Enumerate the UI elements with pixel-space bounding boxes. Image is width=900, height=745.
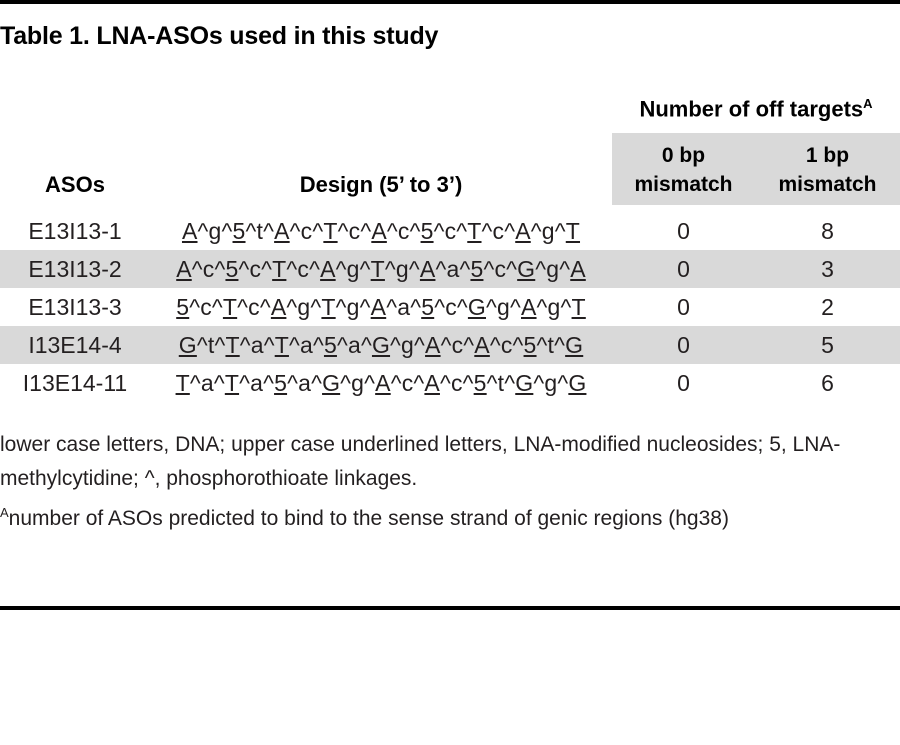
cell-offtargets-0bp: 0 (612, 250, 755, 288)
column-group-header-label: Number of off targets (639, 96, 863, 121)
column-header-0bp-line1: 0 bp (612, 141, 755, 170)
column-header-1bp-line1: 1 bp (755, 141, 900, 170)
cell-aso-name: E13I13-3 (0, 288, 150, 326)
table-bottom-rule (0, 606, 900, 610)
footnote-legend: lower case letters, DNA; upper case unde… (0, 428, 890, 496)
cell-offtargets-0bp: 0 (612, 364, 755, 402)
table-figure: Table 1. LNA-ASOs used in this study Num… (0, 0, 900, 745)
footnote-a-marker: A (0, 505, 9, 520)
column-header-0bp-mismatch: 0 bp mismatch (612, 141, 755, 199)
table-row: E13I13-2A^c^5^c^T^c^A^g^T^g^A^a^5^c^G^g^… (0, 250, 900, 288)
cell-offtargets-1bp: 3 (755, 250, 900, 288)
cell-aso-name: E13I13-2 (0, 250, 150, 288)
cell-design-sequence: A^c^5^c^T^c^A^g^T^g^A^a^5^c^G^g^A (150, 250, 612, 288)
footnote-a-text: number of ASOs predicted to bind to the … (9, 507, 729, 530)
table-row: E13I13-1A^g^5^t^A^c^T^c^A^c^5^c^T^c^A^g^… (0, 212, 900, 250)
cell-design-sequence: A^g^5^t^A^c^T^c^A^c^5^c^T^c^A^g^T (150, 212, 612, 250)
column-header-asos: ASOs (0, 172, 150, 198)
cell-aso-name: E13I13-1 (0, 212, 150, 250)
column-header-1bp-line2: mismatch (755, 170, 900, 199)
cell-aso-name: I13E14-11 (0, 364, 150, 402)
cell-design-sequence: T^a^T^a^5^a^G^g^A^c^A^c^5^t^G^g^G (150, 364, 612, 402)
column-header-1bp-mismatch: 1 bp mismatch (755, 141, 900, 199)
column-header-0bp-line2: mismatch (612, 170, 755, 199)
cell-offtargets-0bp: 0 (612, 326, 755, 364)
cell-offtargets-1bp: 2 (755, 288, 900, 326)
table-footnotes: lower case letters, DNA; upper case unde… (0, 428, 890, 536)
cell-offtargets-1bp: 6 (755, 364, 900, 402)
cell-offtargets-0bp: 0 (612, 288, 755, 326)
table-title: Table 1. LNA-ASOs used in this study (0, 22, 438, 51)
table-top-rule (0, 0, 900, 4)
column-group-header-off-targets: Number of off targetsA (612, 96, 900, 122)
table-row: E13I13-35^c^T^c^A^g^T^g^A^a^5^c^G^g^A^g^… (0, 288, 900, 326)
table-row: I13E14-11T^a^T^a^5^a^G^g^A^c^A^c^5^t^G^g… (0, 364, 900, 402)
cell-design-sequence: G^t^T^a^T^a^5^a^G^g^A^c^A^c^5^t^G (150, 326, 612, 364)
footnote-a: Anumber of ASOs predicted to bind to the… (0, 496, 890, 536)
column-header-design: Design (5’ to 3’) (150, 172, 612, 198)
cell-offtargets-1bp: 5 (755, 326, 900, 364)
cell-offtargets-0bp: 0 (612, 212, 755, 250)
cell-offtargets-1bp: 8 (755, 212, 900, 250)
cell-aso-name: I13E14-4 (0, 326, 150, 364)
table-row: I13E14-4G^t^T^a^T^a^5^a^G^g^A^c^A^c^5^t^… (0, 326, 900, 364)
footnote-marker-a: A (863, 96, 872, 111)
cell-design-sequence: 5^c^T^c^A^g^T^g^A^a^5^c^G^g^A^g^T (150, 288, 612, 326)
